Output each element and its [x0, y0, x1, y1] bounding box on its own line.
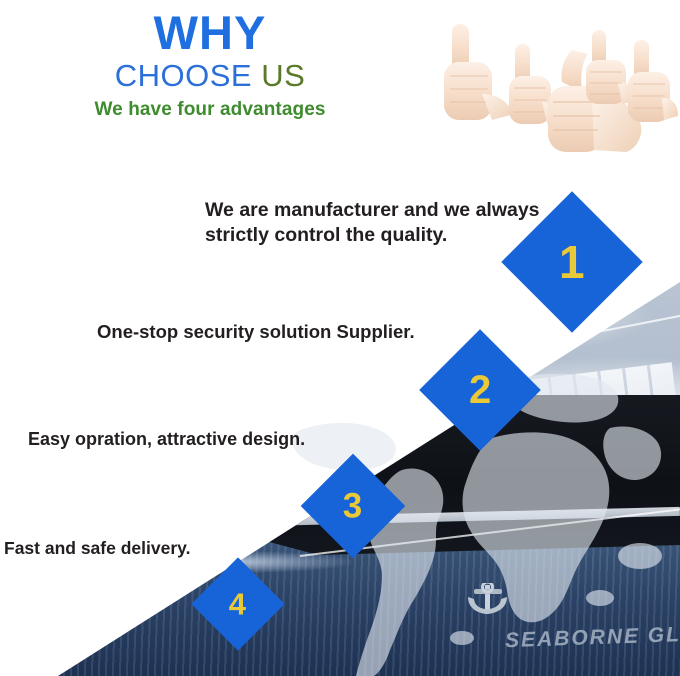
advantage-text-4: Fast and safe delivery. — [4, 537, 254, 559]
headline-us: US — [261, 58, 305, 93]
headline-space — [252, 58, 261, 93]
advantage-number-1: 1 — [559, 239, 585, 285]
advantage-text-2: One-stop security solution Supplier. — [97, 320, 477, 343]
anchor-icon — [462, 583, 514, 617]
poster-header: WHY CHOOSE US We have four advantages — [0, 0, 680, 175]
advantage-number-2: 2 — [469, 370, 491, 410]
advantage-number-3: 3 — [343, 489, 362, 524]
thumbs-up-hand — [628, 40, 678, 122]
headline-why: WHY — [0, 8, 420, 57]
title-block: WHY CHOOSE US We have four advantages — [0, 8, 420, 125]
advantage-number-4: 4 — [229, 589, 246, 620]
thumbs-up-hand — [444, 24, 514, 120]
headline-choose: CHOOSE — [115, 58, 252, 93]
headline-subtitle: We have four advantages — [0, 96, 420, 125]
advantage-text-1: We are manufacturer and we always strict… — [205, 198, 575, 247]
why-choose-us-poster: SEABORNE GLOBAL WHY — [0, 0, 680, 676]
advantage-text-3: Easy opration, attractive design. — [28, 428, 368, 451]
thumbs-up-hands-photo — [422, 2, 678, 172]
headline-choose-us: CHOOSE US — [0, 57, 420, 96]
